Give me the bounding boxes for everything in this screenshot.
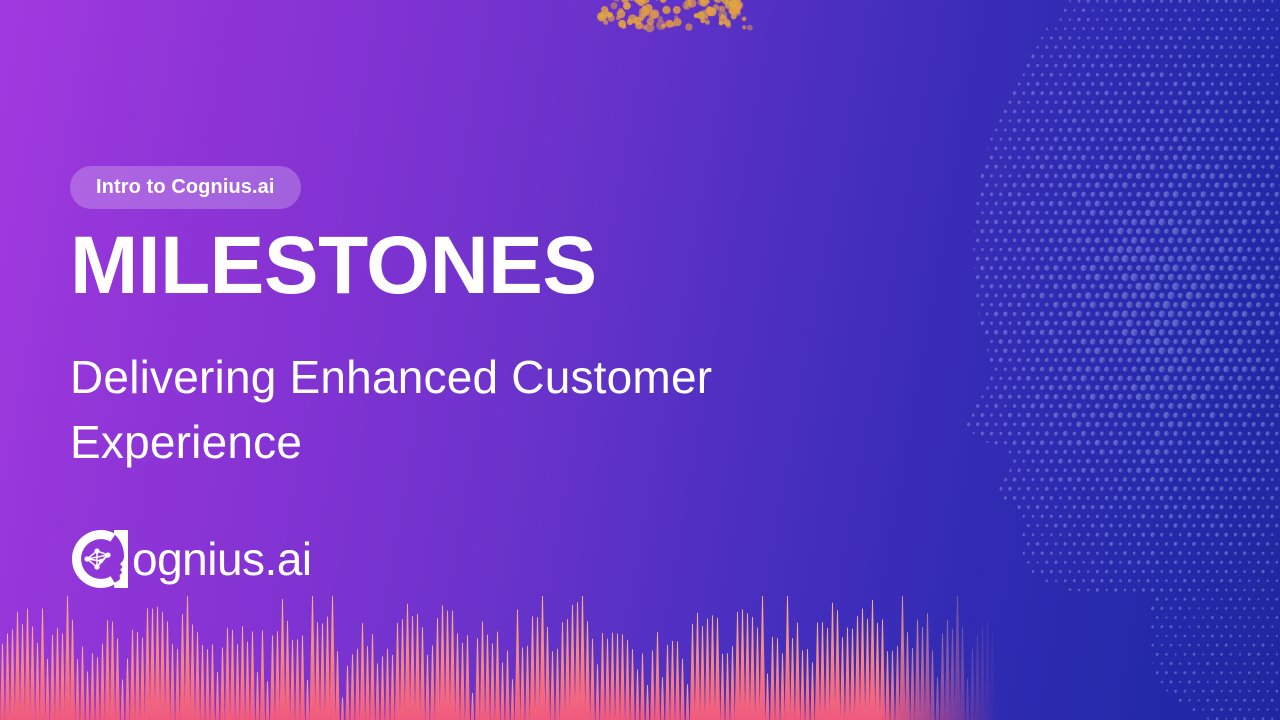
subtitle: Delivering Enhanced Customer Experience [70,345,870,476]
intro-badge: Intro to Cognius.ai [70,166,301,209]
cognius-face-network-icon [70,528,132,590]
halftone-face-profile [940,0,1280,720]
slide-content: Intro to Cognius.ai MILESTONES Deliverin… [70,0,970,720]
presentation-slide: Intro to Cognius.ai MILESTONES Deliverin… [0,0,1280,720]
brand-logo: ognius.ai [70,528,312,590]
page-title: MILESTONES [70,224,597,308]
brand-logo-text: ognius.ai [132,536,312,582]
